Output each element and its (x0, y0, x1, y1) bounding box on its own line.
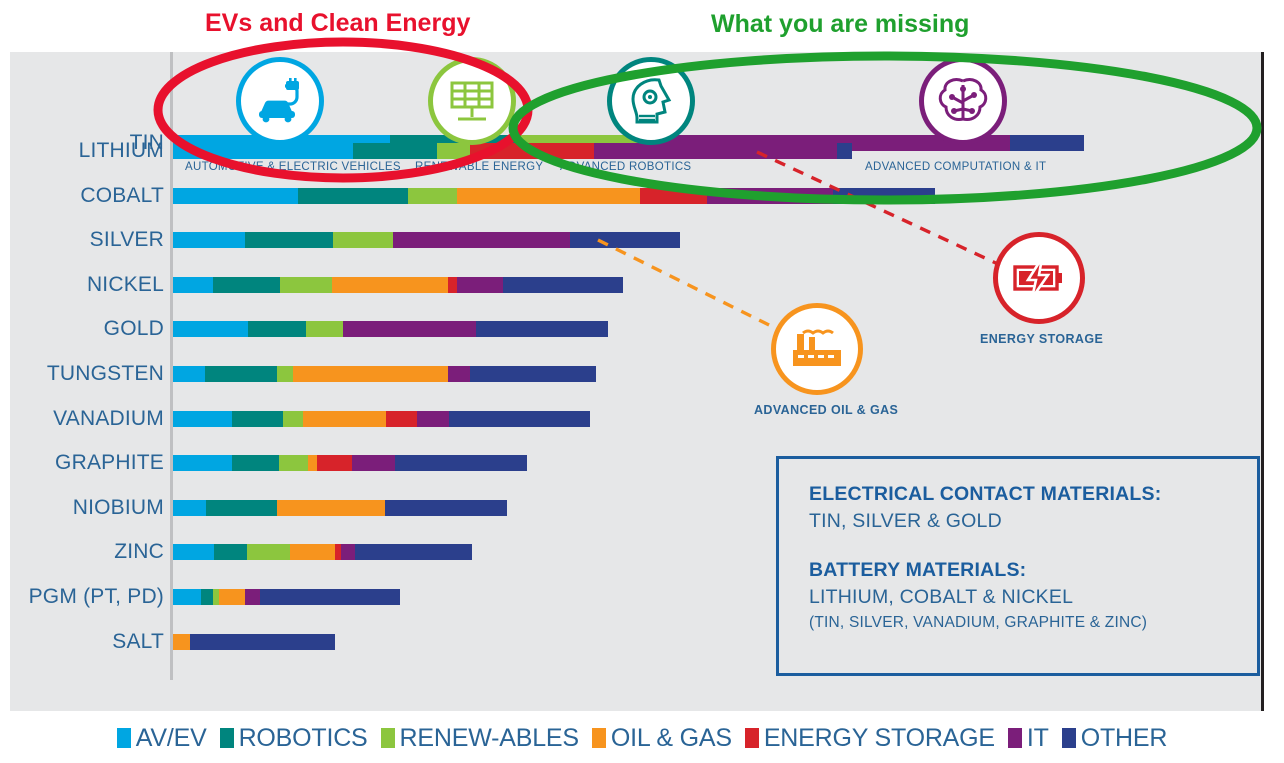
bar-row: LITHIUM (10, 140, 1264, 162)
bar-segment-oil-gas (290, 544, 335, 560)
bar-segment-renew-ables (306, 321, 343, 337)
row-label-gold: GOLD (0, 318, 164, 340)
stacked-bar (173, 321, 608, 337)
row-label-nickel: NICKEL (0, 274, 164, 296)
bar-segment-av-ev (173, 589, 201, 605)
bar-segment-other (355, 544, 472, 560)
bar-segment-energy-storage (317, 455, 352, 471)
bar-segment-other (449, 411, 590, 427)
bar-row: VANADIUM (10, 408, 1264, 430)
stacked-bar (173, 143, 852, 159)
bar-segment-renew-ables (437, 143, 470, 159)
legend-item-avev[interactable]: AV/EV (117, 724, 207, 753)
legend-item-it[interactable]: IT (1008, 724, 1049, 753)
bar-row: TUNGSTEN (10, 363, 1264, 385)
info-box: ELECTRICAL CONTACT MATERIALS: TIN, SILVE… (776, 456, 1260, 676)
info-line-electrical: TIN, SILVER & GOLD (809, 507, 1257, 535)
bar-segment-av-ev (173, 500, 206, 516)
strip-label-it: ADVANCED COMPUTATION & IT (865, 161, 1046, 173)
bar-segment-other (833, 188, 935, 204)
bar-segment-other (260, 589, 400, 605)
annotation-title-evs: EVs and Clean Energy (205, 9, 470, 38)
bar-segment-renew-ables (279, 455, 308, 471)
legend-swatch-it (1008, 728, 1022, 748)
bar-segment-energy-storage (386, 411, 417, 427)
factory-icon (771, 303, 863, 395)
brain-circuit-icon (919, 57, 1007, 145)
legend-item-robotics[interactable]: ROBOTICS (220, 724, 368, 753)
callout-energy-storage: ENERGY STORAGE (993, 232, 1085, 324)
bar-segment-other (395, 455, 527, 471)
bar-segment-oil-gas (457, 188, 640, 204)
bar-segment-it (417, 411, 449, 427)
row-label-pgm-pt-pd: PGM (PT, PD) (0, 586, 164, 608)
chart-legend: AV/EVROBOTICSRENEW-ABLESOIL & GASENERGY … (0, 713, 1284, 763)
bar-segment-other (476, 321, 608, 337)
legend-item-renewables[interactable]: RENEW-ABLES (381, 724, 579, 753)
bar-segment-robotics (205, 366, 277, 382)
legend-item-storage[interactable]: ENERGY STORAGE (745, 724, 995, 753)
row-label-silver: SILVER (0, 229, 164, 251)
bar-segment-robotics (214, 544, 247, 560)
bar-segment-oil-gas (332, 277, 448, 293)
bar-segment-renew-ables (280, 277, 332, 293)
bar-segment-av-ev (173, 455, 232, 471)
stacked-bar (173, 589, 400, 605)
strip-label-robotics: ADVANCED ROBOTICS (560, 161, 691, 173)
stacked-bar (173, 634, 335, 650)
info-heading-electrical: ELECTRICAL CONTACT MATERIALS: (809, 481, 1257, 507)
stacked-bar (173, 500, 507, 516)
bar-segment-renew-ables (283, 411, 303, 427)
stacked-bar (173, 544, 472, 560)
bar-segment-other (837, 143, 852, 159)
row-label-vanadium: VANADIUM (0, 408, 164, 430)
bar-segment-energy-storage (448, 277, 457, 293)
row-label-niobium: NIOBIUM (0, 497, 164, 519)
legend-item-oilgas[interactable]: OIL & GAS (592, 724, 732, 753)
bar-segment-other (470, 366, 596, 382)
bar-segment-other (190, 634, 335, 650)
robot-head-icon (607, 57, 695, 145)
legend-label-oilgas: OIL & GAS (611, 724, 732, 753)
bar-row: COBALT (10, 185, 1264, 207)
electric-car-icon (236, 57, 324, 145)
strip-label-renewables: RENEWABLE ENERGY (415, 161, 543, 173)
bar-segment-robotics (298, 188, 408, 204)
info-line-battery: LITHIUM, COBALT & NICKEL (809, 583, 1257, 611)
bar-segment-av-ev (173, 232, 245, 248)
bar-segment-oil-gas (277, 500, 385, 516)
bar-segment-renew-ables (408, 188, 457, 204)
bar-segment-av-ev (173, 321, 248, 337)
bar-segment-renew-ables (333, 232, 393, 248)
bar-segment-other (503, 277, 623, 293)
bar-segment-it (448, 366, 470, 382)
legend-label-storage: ENERGY STORAGE (764, 724, 995, 753)
bar-segment-robotics (248, 321, 306, 337)
annotation-title-missing: What you are missing (711, 10, 969, 39)
bar-segment-robotics (232, 411, 283, 427)
strip-label-avev: AUTOMOTIVE & ELECTRIC VEHICLES (185, 161, 401, 173)
bar-segment-robotics (201, 589, 213, 605)
legend-swatch-oilgas (592, 728, 606, 748)
bar-segment-oil-gas (308, 455, 317, 471)
bar-segment-it (457, 277, 503, 293)
bar-segment-renew-ables (247, 544, 290, 560)
legend-swatch-robotics (220, 728, 234, 748)
bar-segment-it (707, 188, 833, 204)
bar-segment-renew-ables (277, 366, 293, 382)
battery-bolt-icon (993, 232, 1085, 324)
row-label-graphite: GRAPHITE (0, 452, 164, 474)
legend-swatch-storage (745, 728, 759, 748)
bar-segment-av-ev (173, 277, 213, 293)
bar-segment-energy-storage (640, 188, 707, 204)
legend-swatch-other (1062, 728, 1076, 748)
bar-segment-av-ev (173, 143, 353, 159)
callout-label-energy-storage: ENERGY STORAGE (980, 332, 1100, 346)
bar-segment-av-ev (173, 411, 232, 427)
stacked-bar (173, 411, 590, 427)
bar-segment-other (385, 500, 507, 516)
bar-segment-av-ev (173, 366, 205, 382)
bar-segment-av-ev (173, 544, 214, 560)
bar-segment-energy-storage (470, 143, 594, 159)
bar-segment-robotics (232, 455, 279, 471)
callout-advanced-oil-and-gas: ADVANCED OIL & GAS (771, 303, 863, 395)
row-label-tungsten: TUNGSTEN (0, 363, 164, 385)
legend-item-other[interactable]: OTHER (1062, 724, 1168, 753)
bar-segment-robotics (206, 500, 277, 516)
bar-segment-it (245, 589, 260, 605)
info-heading-battery: BATTERY MATERIALS: (809, 557, 1257, 583)
legend-swatch-renewables (381, 728, 395, 748)
legend-label-avev: AV/EV (136, 724, 207, 753)
legend-label-renewables: RENEW-ABLES (400, 724, 579, 753)
stacked-bar (173, 232, 680, 248)
bar-segment-robotics (353, 143, 437, 159)
legend-label-it: IT (1027, 724, 1049, 753)
solar-panel-icon (428, 57, 516, 145)
callout-label-oil-gas: ADVANCED OIL & GAS (754, 403, 890, 417)
bar-segment-it (341, 544, 355, 560)
bar-segment-oil-gas (219, 589, 245, 605)
stacked-bar (173, 277, 623, 293)
row-label-lithium: LITHIUM (0, 140, 164, 162)
bar-segment-robotics (213, 277, 280, 293)
bar-segment-oil-gas (293, 366, 448, 382)
bar-segment-av-ev (173, 188, 298, 204)
bar-segment-oil-gas (173, 634, 190, 650)
legend-label-other: OTHER (1081, 724, 1168, 753)
bar-segment-it (352, 455, 395, 471)
bar-segment-oil-gas (303, 411, 386, 427)
bar-segment-robotics (245, 232, 333, 248)
info-note-battery: (TIN, SILVER, VANADIUM, GRAPHITE & ZINC) (809, 611, 1257, 635)
legend-label-robotics: ROBOTICS (239, 724, 368, 753)
stacked-bar (173, 366, 596, 382)
legend-swatch-avev (117, 728, 131, 748)
bar-segment-it (343, 321, 476, 337)
bar-segment-it (594, 143, 837, 159)
row-label-cobalt: COBALT (0, 185, 164, 207)
stacked-bar (173, 188, 935, 204)
row-label-salt: SALT (0, 631, 164, 653)
bar-segment-other (570, 232, 680, 248)
row-label-zinc: ZINC (0, 541, 164, 563)
stacked-bar (173, 455, 527, 471)
bar-segment-it (393, 232, 570, 248)
